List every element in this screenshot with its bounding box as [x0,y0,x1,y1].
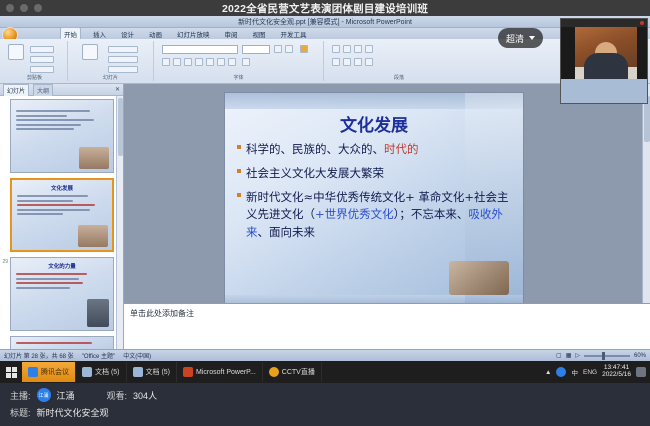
slide-counter: 幻灯片 第 28 张，共 68 张 [4,351,74,360]
ribbon-group-slides: 幻灯片 [68,41,154,81]
explorer-icon [133,367,143,377]
shadow-button[interactable] [195,58,203,66]
ribbon-group-paragraph: 段落 [324,41,474,81]
thumbnail-slide-selected[interactable]: 文化发展 [10,178,114,252]
taskbar-item-label: 腾讯会议 [41,367,69,377]
thumbnail-number [2,99,10,101]
tab-slideshow[interactable]: 幻灯片放映 [174,28,213,40]
font-color-button[interactable] [242,58,250,66]
thumbnail-image [78,225,108,247]
character-spacing-button[interactable] [217,58,225,66]
normal-view-icon[interactable]: ▢ [556,352,562,359]
strikethrough-button[interactable] [206,58,214,66]
thumbnail-item[interactable]: 29 文化的力量 [0,254,116,333]
increase-font-size-button[interactable] [274,45,282,53]
explorer-icon [82,367,92,377]
host-row: 主播: 江涌 江涌 观看: 304人 [10,388,640,402]
thumbnail-slide[interactable] [10,336,114,349]
slide-title[interactable]: 文化发展 [225,111,523,136]
thumbnail-item[interactable] [0,333,116,349]
thumbnail-content [11,270,113,289]
bullet-segment: 、面向未来 [258,225,316,239]
thumbnail-content [11,337,113,344]
ribbon-group-font-label: 字体 [154,74,323,81]
new-slide-icon [82,44,98,60]
tab-review[interactable]: 审阅 [222,28,241,40]
align-center-button[interactable] [343,58,351,66]
stream-title: 2022全省民营文艺表演团体剧目建设培训班 [0,1,650,16]
thumbnail-slide[interactable]: 文化的力量 [10,257,114,331]
slide-image [449,261,509,295]
screen-root: 2022全省民营文艺表演团体剧目建设培训班 新时代文化安全观.ppt [兼容模式… [0,0,650,426]
windows-taskbar[interactable]: 腾讯会议 文档 (5) 文档 (5) Microsoft PowerP... C… [0,361,650,383]
current-slide[interactable]: 文化发展 科学的、民族的、大众的、时代的 社会主义文化大发展大繁荣 新时代文化≈… [224,92,524,310]
copy-button[interactable] [30,55,54,63]
justify-button[interactable] [365,58,373,66]
live-stream-info: 主播: 江涌 江涌 观看: 304人 标题: 新时代文化安全观 [0,383,650,426]
numbering-button[interactable] [343,45,351,53]
slide-bullet: 新时代文化≈中华优秀传统文化+ 革命文化+社会主义先进文化（+世界优秀文化）；不… [237,189,513,242]
delete-slide-button[interactable] [108,65,138,73]
shared-screen-area: 新时代文化安全观.ppt [兼容模式] - Microsoft PowerPoi… [0,16,650,361]
tab-animations[interactable]: 动画 [146,28,165,40]
taskbar-item-label: CCTV直播 [282,367,315,377]
underline-button[interactable] [184,58,192,66]
chevron-down-icon [529,36,535,40]
edit-area-scrollbar[interactable] [642,84,650,303]
thumbnail-slide[interactable] [10,99,114,173]
align-left-button[interactable] [332,58,340,66]
ribbon-group-clipboard: 剪贴板 [2,41,68,81]
quality-label: 超清 [506,32,524,45]
tab-view[interactable]: 视图 [250,28,269,40]
thumbnail-list[interactable]: 文化发展 29 文化的力量 [0,96,116,349]
ribbon-tab-strip[interactable]: 开始 插入 设计 动画 幻灯片放映 审阅 视图 开发工具 [60,28,310,39]
slide-edit-area[interactable]: 文化发展 科学的、民族的、大众的、时代的 社会主义文化大发展大繁荣 新时代文化≈… [124,84,650,349]
input-method-indicator[interactable]: 中 [571,367,578,377]
ribbon-group-paragraph-label: 段落 [324,74,474,81]
ribbon-group-clipboard-label: 剪贴板 [2,74,67,81]
tab-design[interactable]: 设计 [118,28,137,40]
thumbnail-number [2,336,10,338]
format-painter-button[interactable] [30,65,54,73]
tencent-meeting-icon [28,367,38,377]
thumbnail-number [2,178,10,180]
powerpoint-status-bar: 幻灯片 第 28 张，共 68 张 "Office 主题" 中文(中国) ▢ ▦… [0,349,650,361]
language-indicator[interactable]: 中文(中国) [123,351,151,360]
taskbar-item-powerpoint[interactable]: Microsoft PowerP... [177,362,263,382]
host-label: 主播: [10,389,31,402]
panel-tab-strip[interactable]: 幻灯片 大纲 ✕ [0,84,123,96]
recording-indicator-icon [640,21,644,25]
quality-selector[interactable]: 超清 [498,28,543,48]
webcam-person-body [584,53,628,79]
tray-clock[interactable]: 13:47:41 2022/5/16 [602,365,631,379]
viewers-label: 观看: [107,389,128,402]
tab-developer[interactable]: 开发工具 [278,28,310,40]
thumbnail-title: 文化的力量 [11,262,113,270]
avatar[interactable]: 江涌 [37,388,51,402]
square-bullet-icon [237,165,246,173]
font-size-input[interactable] [242,45,270,54]
cut-button[interactable] [30,45,54,53]
media-icon [269,367,279,377]
decrease-indent-button[interactable] [354,45,362,53]
taskbar-item-label: 文档 (5) [146,367,171,377]
slide-body[interactable]: 科学的、民族的、大众的、时代的 社会主义文化大发展大繁荣 新时代文化≈中华优秀传… [237,141,513,248]
taskbar-item-documents-1[interactable]: 文档 (5) [76,362,127,382]
language-indicator[interactable]: ENG [583,369,597,376]
powerpoint-window-title: 新时代文化安全观.ppt [兼容模式] - Microsoft PowerPoi… [0,17,650,27]
italic-button[interactable] [173,58,181,66]
topic-value: 新时代文化安全观 [37,406,109,419]
webcam-video [575,27,637,79]
show-hidden-icons[interactable]: ▲ [545,369,551,376]
change-case-button[interactable] [228,58,236,66]
ribbon-group-font: 字体 [154,41,324,81]
notification-icon[interactable] [636,367,646,377]
powerpoint-icon [183,367,193,377]
system-tray[interactable]: ▲ 中 ENG 13:47:41 2022/5/16 [545,365,650,379]
taskbar-item-label: Microsoft PowerP... [196,369,256,376]
panel-close-icon[interactable]: ✕ [115,86,120,93]
bullet-segment-blue: +世界优秀文化 [315,207,394,221]
zoom-slider[interactable] [584,355,630,357]
sorter-view-icon[interactable]: ▦ [566,352,572,359]
bullet-segment: ）；不忘本来、 [394,207,469,221]
taskbar-item-label: 文档 (5) [95,367,120,377]
clear-formatting-button[interactable] [300,45,308,53]
layout-button[interactable] [108,45,138,53]
bullet-segment: 科学的、民族的、大众的、 [246,142,384,156]
pip-lower-area [561,79,647,103]
tab-insert[interactable]: 插入 [90,28,109,40]
paste-button[interactable] [6,44,26,70]
align-right-button[interactable] [354,58,362,66]
notes-pane[interactable]: 单击此处添加备注 [124,303,650,349]
player-titlebar: 2022全省民营文艺表演团体剧目建设培训班 [0,0,650,16]
reset-button[interactable] [108,55,138,63]
host-name: 江涌 [57,389,75,402]
panel-tab-slides[interactable]: 幻灯片 [3,84,29,96]
zoom-level[interactable]: 60% [634,353,646,359]
bold-button[interactable] [162,58,170,66]
slide-bullet-text: 新时代文化≈中华优秀传统文化+ 革命文化+社会主义先进文化（+世界优秀文化）；不… [246,189,513,242]
viewers-count: 304人 [133,389,157,402]
windows-start-icon[interactable] [0,361,22,383]
powerpoint-titlebar: 新时代文化安全观.ppt [兼容模式] - Microsoft PowerPoi… [0,16,650,28]
increase-indent-button[interactable] [365,45,373,53]
font-family-input[interactable] [162,45,238,54]
pip-titlebar [561,19,647,27]
webcam-pip-window[interactable] [560,18,648,104]
theme-name: "Office 主题" [82,351,116,360]
thumbnail-content [12,192,112,215]
tray-date: 2022/5/16 [602,372,631,379]
thumbnail-item[interactable]: 文化发展 [0,175,116,254]
slide-bullet-text: 社会主义文化大发展大繁荣 [246,165,513,183]
panel-scrollbar-thumb[interactable] [118,98,123,156]
panel-scrollbar[interactable] [116,96,123,349]
taskbar-item-documents-2[interactable]: 文档 (5) [127,362,178,382]
topic-row: 标题: 新时代文化安全观 [10,406,640,419]
taskbar-item-tencent-meeting[interactable]: 腾讯会议 [22,362,76,382]
paste-icon [8,44,24,60]
panel-tab-outline[interactable]: 大纲 [33,84,53,96]
thumbnail-title: 文化发展 [12,184,112,192]
status-right-group: ▢ ▦ ▷ 60% [556,352,646,359]
taskbar-item-cctv-live[interactable]: CCTV直播 [263,362,322,382]
thumbnail-item[interactable] [0,96,116,175]
thumbnail-content [11,100,113,130]
square-bullet-icon [237,141,246,149]
decrease-font-size-button[interactable] [285,45,293,53]
thumbnail-image [87,299,109,327]
slide-bullet-text: 科学的、民族的、大众的、时代的 [246,141,513,159]
slideshow-icon[interactable]: ▷ [575,352,580,359]
slide-thumbnail-panel[interactable]: 幻灯片 大纲 ✕ [0,84,124,349]
bullet-segment-red: 时代的 [384,142,419,156]
new-slide-button[interactable] [80,44,100,70]
thumbnail-number: 29 [2,257,10,265]
bullets-button[interactable] [332,45,340,53]
square-bullet-icon [237,189,246,197]
ribbon[interactable]: 剪贴板 幻灯片 [0,39,650,84]
topic-label: 标题: [10,406,31,419]
ribbon-group-slides-label: 幻灯片 [68,74,153,81]
thumbnail-image [79,147,109,169]
network-icon[interactable] [556,367,566,377]
slide-bullet: 社会主义文化大发展大繁荣 [237,165,513,183]
slide-bullet: 科学的、民族的、大众的、时代的 [237,141,513,159]
